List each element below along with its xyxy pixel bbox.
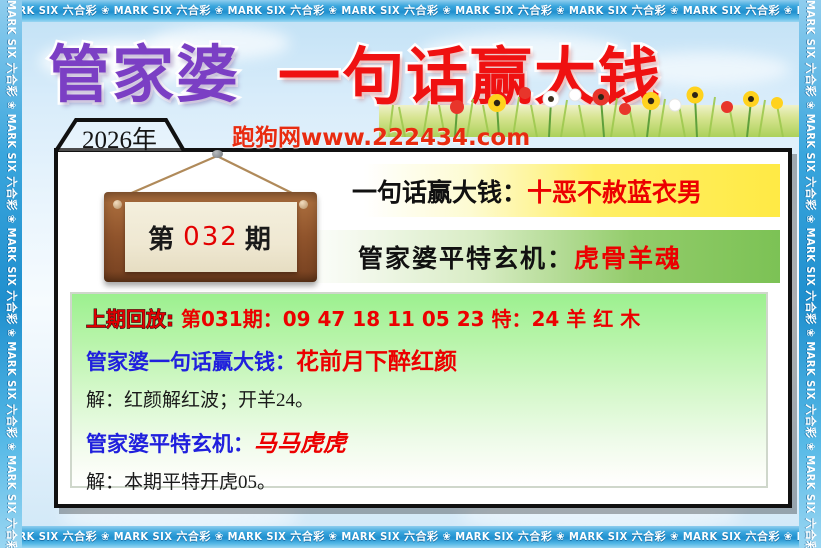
prev-phrase-value: 花前月下醉红颜: [296, 349, 457, 375]
replay-value: 第031期：09 47 18 11 05 23 特：24 羊 红 木: [181, 307, 640, 331]
prev-pingte-line: 管家婆平特玄机：马马虎虎: [72, 412, 766, 458]
sign-nail: [212, 150, 223, 158]
prev-phrase-key: 管家婆一句话赢大钱：: [86, 350, 296, 374]
replay-line: 上期回放: 第031期：09 47 18 11 05 23 特：24 羊 红 木: [72, 294, 766, 332]
year-tab: 2026年: [54, 117, 186, 151]
issue-text: 第032期: [125, 202, 297, 272]
prev-phrase-explain: 解：红颜解红波；开羊24。: [72, 376, 766, 412]
banner-phrase-key: 一句话赢大钱：: [352, 178, 527, 207]
prev-phrase-line: 管家婆一句话赢大钱：花前月下醉红颜: [72, 332, 766, 376]
banner-phrase: 一句话赢大钱：十恶不赦蓝衣男: [296, 164, 780, 217]
site-url[interactable]: 跑狗网www.222434.com: [232, 118, 530, 152]
issue-number: 032: [183, 222, 239, 252]
hanging-issue-sign: 第032期: [96, 150, 326, 285]
prev-pingte-explain: 解：本期平特开虎05。: [72, 458, 766, 494]
banner-pingte-key: 管家婆平特玄机：: [358, 244, 574, 273]
border-bottom-text: MARK SIX 六合彩 ❀ MARK SIX 六合彩 ❀ MARK SIX 六…: [0, 526, 821, 548]
sign-paper: 第032期: [125, 202, 297, 272]
brand-title-purple: 管家婆: [48, 44, 240, 106]
poster-root: MARK SIX 六合彩 ❀ MARK SIX 六合彩 ❀ MARK SIX 六…: [0, 0, 821, 548]
issue-prefix: 第: [148, 219, 177, 256]
prev-pingte-value: 马马虎虎: [254, 431, 346, 457]
sign-board: 第032期: [104, 192, 317, 282]
replay-label: 上期回放:: [86, 307, 174, 331]
banner-phrase-value: 十恶不赦蓝衣男: [527, 178, 702, 207]
results-box: 上期回放: 第031期：09 47 18 11 05 23 特：24 羊 红 木…: [70, 292, 768, 488]
issue-suffix: 期: [245, 219, 274, 256]
banner-pingte-value: 虎骨羊魂: [574, 244, 682, 273]
prev-pingte-key: 管家婆平特玄机：: [86, 432, 254, 456]
banner-pingte: 管家婆平特玄机：虎骨羊魂: [296, 230, 780, 283]
border-bottom: MARK SIX 六合彩 ❀ MARK SIX 六合彩 ❀ MARK SIX 六…: [0, 526, 821, 548]
border-top: MARK SIX 六合彩 ❀ MARK SIX 六合彩 ❀ MARK SIX 六…: [0, 0, 821, 22]
border-top-text: MARK SIX 六合彩 ❀ MARK SIX 六合彩 ❀ MARK SIX 六…: [0, 0, 821, 22]
